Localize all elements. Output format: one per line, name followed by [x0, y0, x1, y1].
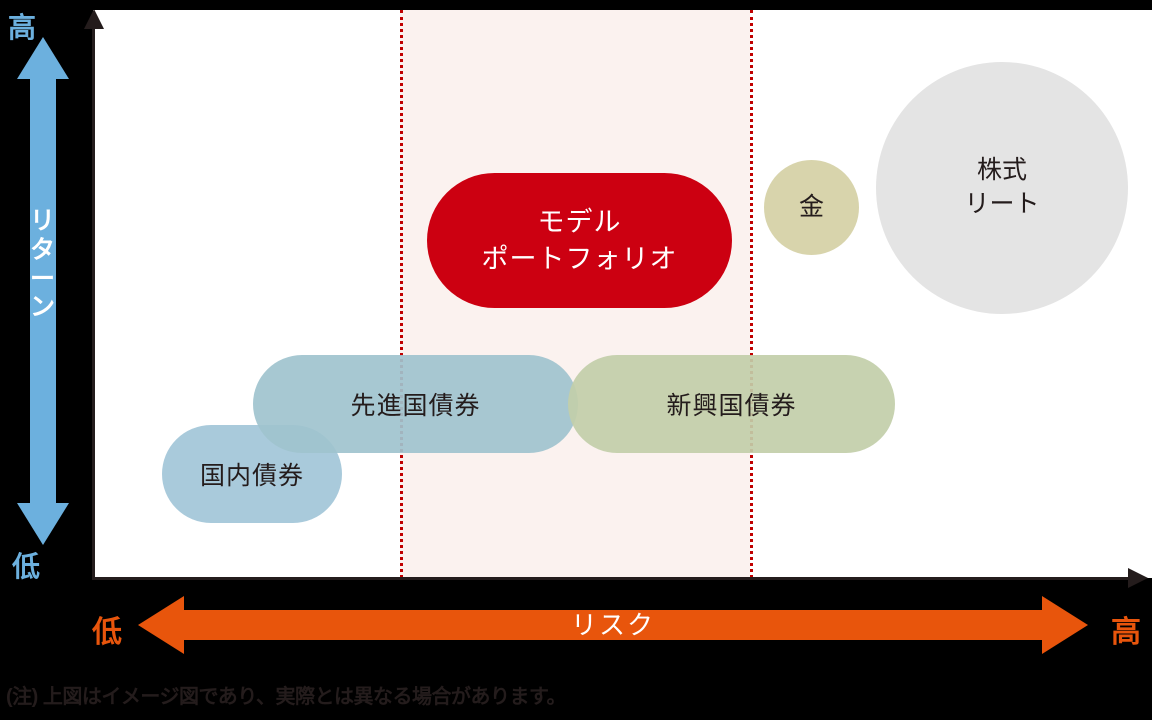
- y-axis-arrowhead-icon: [84, 9, 104, 29]
- return-arrow-up-head-icon: [17, 37, 69, 79]
- asset-developed-bonds: 先進国債券: [253, 355, 578, 453]
- x-axis-high-label: 高: [1111, 607, 1141, 651]
- x-axis-low-label: 低: [92, 607, 122, 651]
- risk-axis-label: リスク: [138, 596, 1088, 654]
- asset-label-wrap: モデル ポートフォリオ: [482, 204, 678, 277]
- risk-return-chart: 国内債券 先進国債券 新興国債券 モデル ポートフォリオ 金 株式 リート 高 …: [0, 0, 1152, 720]
- asset-model-portfolio: モデル ポートフォリオ: [427, 173, 732, 308]
- return-label-char-1: タ: [17, 236, 69, 265]
- top-black-strip: [0, 0, 1152, 10]
- x-axis-arrowhead-icon: [1128, 568, 1148, 588]
- return-arrow-down-head-icon: [17, 503, 69, 545]
- return-label-char-0: リ: [17, 207, 69, 236]
- return-axis-label: リ タ ー ン: [17, 207, 69, 322]
- risk-axis-arrow: リスク: [138, 596, 1088, 654]
- x-axis-line: [92, 577, 1134, 580]
- band-line-left: [400, 10, 403, 578]
- return-label-char-2: ー: [17, 265, 69, 294]
- asset-label: 金: [799, 191, 824, 225]
- y-axis-line: [92, 26, 95, 580]
- asset-label-wrap: 株式 リート: [964, 154, 1039, 222]
- asset-label: 国内債券: [200, 456, 304, 492]
- asset-label-line1: 株式: [964, 154, 1039, 188]
- band-line-right: [750, 10, 753, 578]
- asset-label-line1: モデル: [482, 204, 678, 240]
- asset-label: 新興国債券: [666, 386, 796, 422]
- return-axis-arrow: リ タ ー ン: [17, 37, 69, 545]
- y-axis-low-label: 低: [12, 545, 40, 585]
- asset-emerging-bonds: 新興国債券: [568, 355, 895, 453]
- asset-label-line2: リート: [964, 188, 1039, 222]
- return-label-char-3: ン: [17, 293, 69, 322]
- asset-gold: 金: [764, 160, 859, 255]
- asset-label-line2: ポートフォリオ: [482, 241, 678, 277]
- footnote-text: (注) 上図はイメージ図であり、実際とは異なる場合があります。: [6, 680, 566, 709]
- asset-equity-reit: 株式 リート: [876, 62, 1128, 314]
- asset-label: 先進国債券: [350, 386, 480, 422]
